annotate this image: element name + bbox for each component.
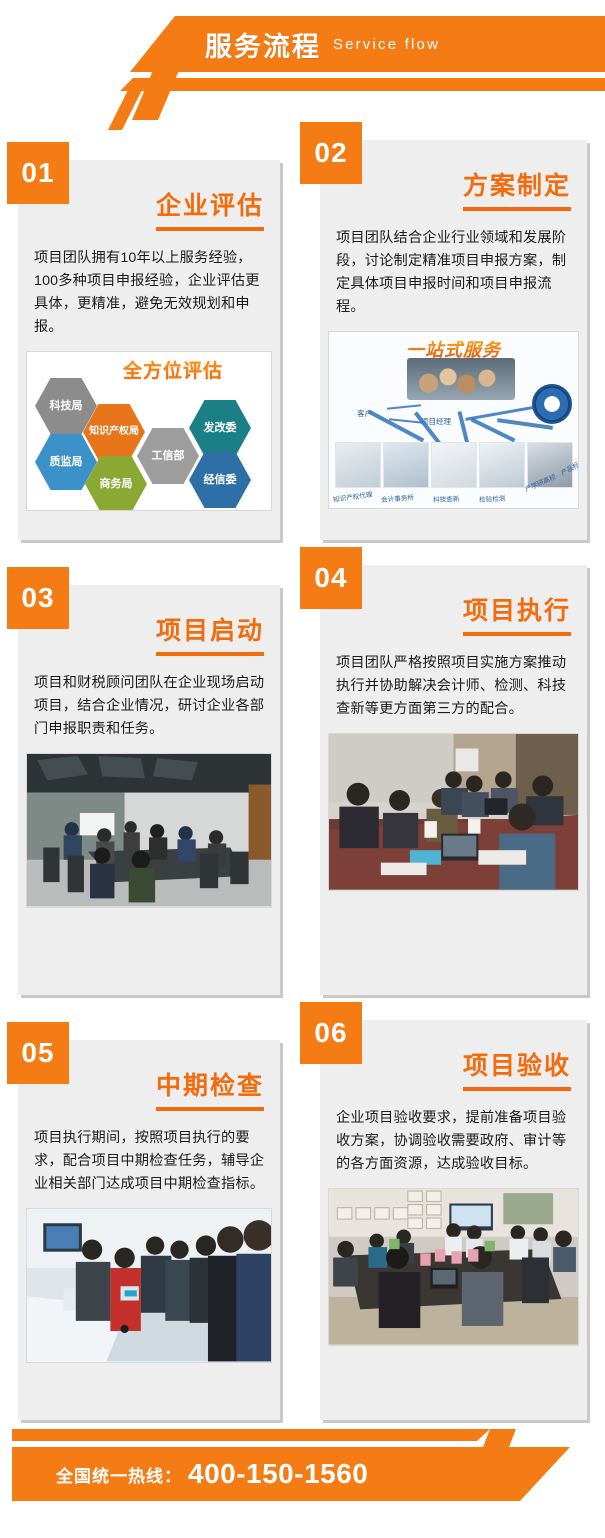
one-stop-thumb-accounting — [383, 442, 429, 488]
iso-seal-icon — [532, 384, 572, 424]
step-number-badge: 03 — [7, 567, 69, 629]
hex-diagram-title: 全方位评估 — [123, 356, 223, 383]
step-number-badge: 06 — [300, 1002, 362, 1064]
one-stop-service-diagram: 一站式服务 客户 项目经理 知识产权代理 会计事务所 科技查 — [329, 332, 578, 508]
card-title: 项目验收 — [463, 1046, 571, 1091]
page-title: 服务流程 — [205, 25, 321, 64]
step-number-badge: 05 — [7, 1022, 69, 1084]
card-title: 企业评估 — [156, 186, 264, 231]
meeting-room-photo — [27, 754, 271, 907]
card-title: 项目启动 — [156, 611, 264, 656]
step-card-03[interactable]: 03 项目启动 项目和财税顾问团队在企业现场启动项目，结合企业情况，研讨企业各部… — [18, 585, 280, 995]
working-meeting-photo — [329, 734, 578, 890]
card-media-photo — [26, 1208, 272, 1363]
card-media-hex-diagram: 全方位评估 科技局 知识产权局 发改委 质监局 工信部 商务局 经信委 — [26, 351, 272, 511]
card-media-photo — [26, 753, 272, 908]
card-title: 项目执行 — [463, 591, 571, 636]
card-body-text: 项目团队拥有10年以上服务经验，100多种项目申报经验，企业评估更具体，更精准，… — [18, 231, 280, 339]
step-number-badge: 01 — [7, 142, 69, 204]
infographic-page: 服务流程 Service flow 01 企业评估 项目团队拥有10年以上服务经… — [0, 0, 605, 1538]
hex-node-fagai: 发改委 — [189, 400, 251, 456]
hotline-label: 全国统一热线： — [56, 1462, 182, 1487]
showroom-visit-photo — [27, 1209, 271, 1362]
step-card-04[interactable]: 04 项目执行 项目团队严格按照项目实施方案推动执行并协助解决会计师、检测、科技… — [320, 565, 587, 995]
one-stop-caption: 会计事务所 — [381, 492, 415, 504]
one-stop-caption: 知识产权代理 — [332, 489, 373, 504]
card-body-text: 项目团队结合企业行业领域和发展阶段，讨论制定精准项目申报方案，制定具体项目申报时… — [320, 211, 587, 319]
footer-accent-stripe — [12, 1429, 490, 1441]
card-body-text: 项目和财税顾问团队在企业现场启动项目，结合企业情况，研讨企业各部门申报职责和任务… — [18, 656, 280, 741]
step-card-05[interactable]: 05 中期检查 项目执行期间，按照项目执行的要求，配合项目中期检查任务，辅导企业… — [18, 1040, 280, 1420]
step-card-02[interactable]: 02 方案制定 项目团队结合企业行业领域和发展阶段，讨论制定精准项目申报方案，制… — [320, 140, 587, 540]
one-stop-caption: 检验检测 — [479, 493, 506, 504]
page-footer: 全国统一热线： 400-150-1560 — [0, 1413, 605, 1538]
hex-diagram: 全方位评估 科技局 知识产权局 发改委 质监局 工信部 商务局 经信委 — [27, 352, 271, 510]
hex-node-gongxin: 工信部 — [137, 428, 199, 484]
arrow-icon — [387, 404, 421, 410]
hex-node-jingxin: 经信委 — [189, 452, 251, 508]
page-subtitle: Service flow — [333, 36, 440, 53]
one-stop-thumb-search — [431, 442, 477, 488]
step-card-01[interactable]: 01 企业评估 项目团队拥有10年以上服务经验，100多种项目申报经验，企业评估… — [18, 160, 280, 540]
one-stop-thumb-testing — [479, 442, 525, 488]
step-number-badge: 04 — [300, 547, 362, 609]
card-body-text: 项目执行期间，按照项目执行的要求，配合项目中期检查任务，辅导企业相关部门达成项目… — [18, 1111, 280, 1196]
one-stop-team-photo — [407, 358, 515, 400]
page-header: 服务流程 Service flow — [0, 0, 605, 100]
card-media-one-stop-diagram: 一站式服务 客户 项目经理 知识产权代理 会计事务所 科技查 — [328, 331, 579, 509]
step-number-badge: 02 — [300, 122, 362, 184]
acceptance-meeting-photo — [329, 1189, 578, 1345]
hotline-number[interactable]: 400-150-1560 — [188, 1458, 368, 1490]
header-accent-stripe — [120, 78, 605, 91]
card-title: 中期检查 — [156, 1066, 264, 1111]
one-stop-thumb-ip — [335, 442, 381, 488]
header-text-group: 服务流程 Service flow — [0, 16, 605, 72]
card-media-photo — [328, 1188, 579, 1346]
card-body-text: 企业项目验收要求，提前准备项目验收方案，协调验收需要政府、审计等的各方面资源，达… — [320, 1091, 587, 1176]
one-stop-caption: 科技查新 — [433, 493, 460, 504]
step-card-06[interactable]: 06 项目验收 企业项目验收要求，提前准备项目验收方案，协调验收需要政府、审计等… — [320, 1020, 587, 1420]
card-media-photo — [328, 733, 579, 891]
card-body-text: 项目团队严格按照项目实施方案推动执行并协助解决会计师、检测、科技查新等更方面第三… — [320, 636, 587, 721]
card-title: 方案制定 — [463, 166, 571, 211]
footer-hotline-group: 全国统一热线： 400-150-1560 — [56, 1447, 368, 1501]
